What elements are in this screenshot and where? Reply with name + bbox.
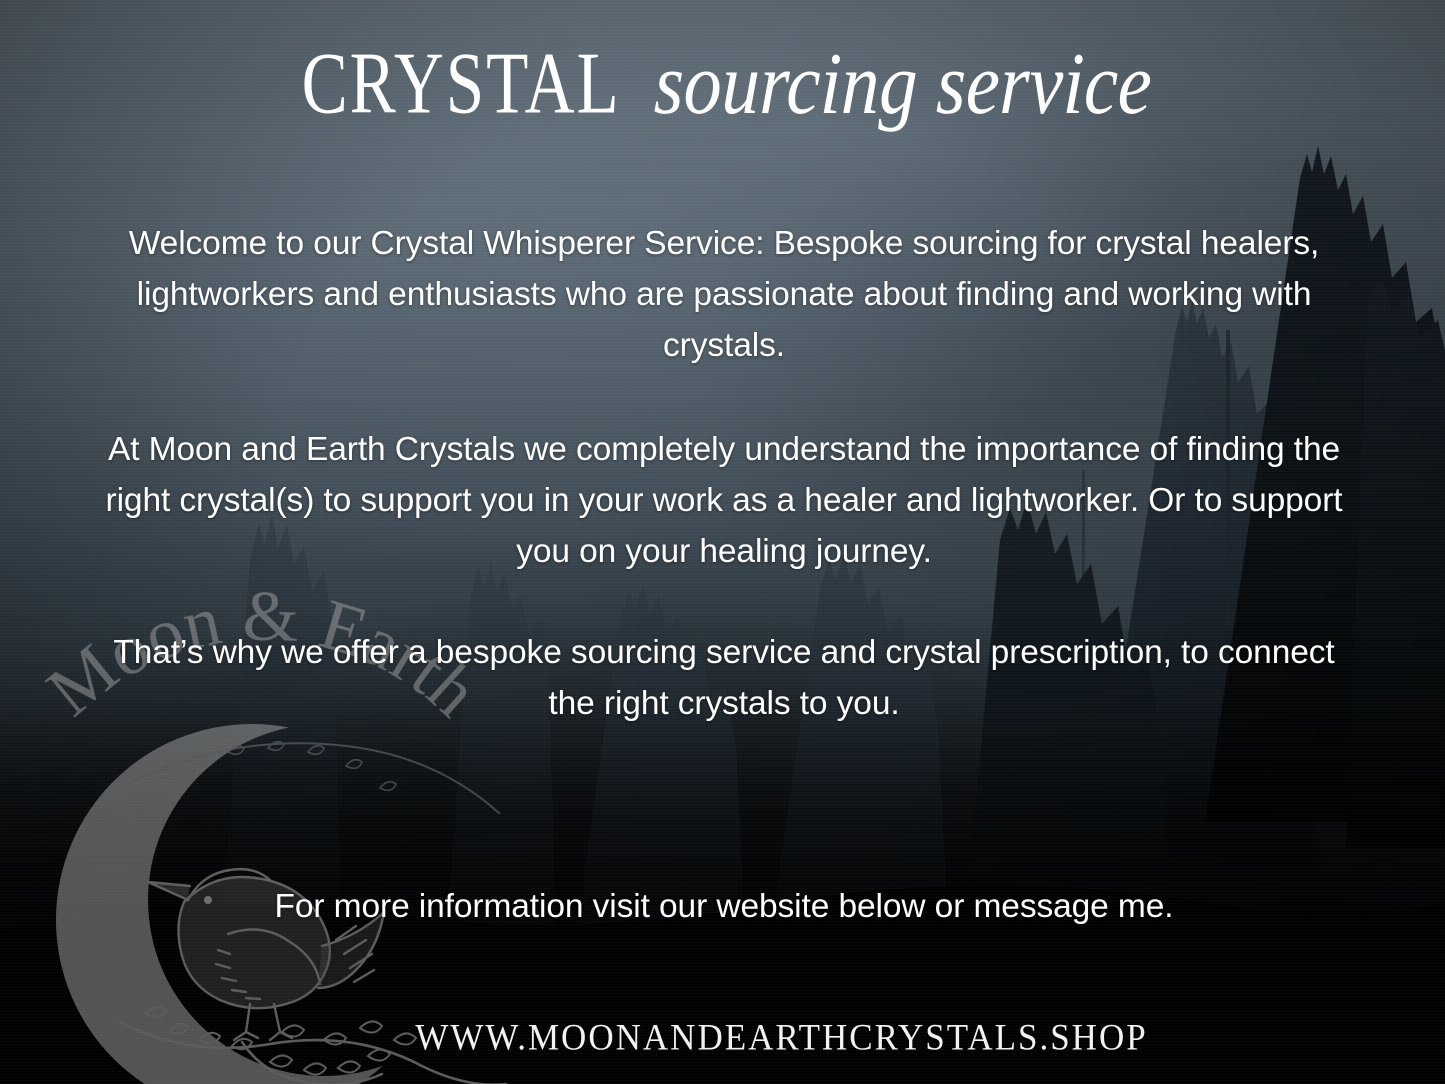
poster-canvas: Moon & Earth Crystals (0, 0, 1445, 1084)
title-primary: CRYSTAL (301, 39, 620, 127)
poster-content: CRYSTALsourcing service Welcome to our C… (0, 0, 1445, 1084)
website-url[interactable]: WWW.MOONANDEARTHCRYSTALS.SHOP (0, 1017, 1445, 1059)
understanding-paragraph: At Moon and Earth Crystals we completely… (96, 424, 1352, 577)
offer-paragraph: That’s why we offer a bespoke sourcing s… (96, 627, 1352, 729)
call-to-action-paragraph: For more information visit our website b… (96, 881, 1352, 932)
title-secondary: sourcing service (653, 40, 1153, 128)
intro-paragraph: Welcome to our Crystal Whisperer Service… (108, 218, 1340, 371)
page-title: CRYSTALsourcing service (0, 52, 1445, 128)
